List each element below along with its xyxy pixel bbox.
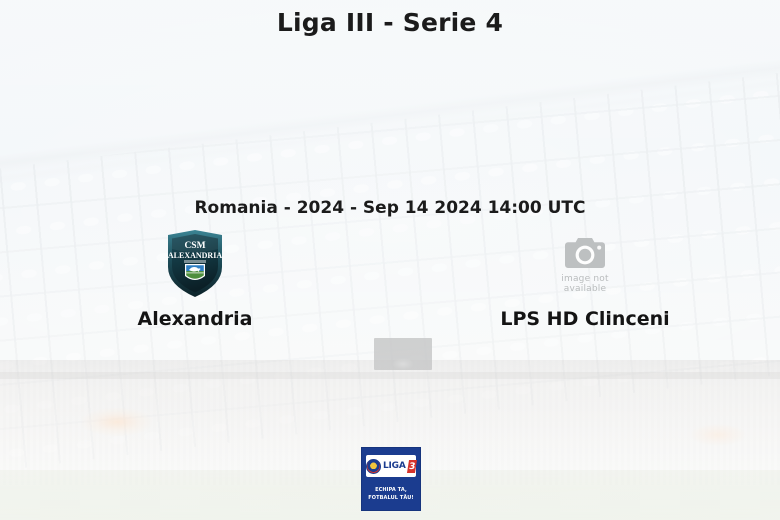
home-team-name: Alexandria [137, 308, 252, 330]
placeholder-text: image not available [549, 274, 621, 294]
svg-text:ALEXANDRIA: ALEXANDRIA [168, 251, 222, 260]
home-team-crest: CSM ALEXANDRIA [159, 228, 231, 300]
liga-wordmark: LIGA [383, 461, 406, 471]
camera-icon [562, 234, 608, 272]
league-badge[interactable]: LIGA 3 ECHIPA TA, FOTBALUL TĂU! [361, 447, 421, 511]
league-tagline-line2: FOTBALUL TĂU! [368, 494, 414, 502]
match-meta: Romania - 2024 - Sep 14 2024 14:00 UTC [0, 198, 780, 218]
league-tagline: ECHIPA TA, FOTBALUL TĂU! [368, 486, 414, 502]
away-team-name: LPS HD Clinceni [500, 308, 669, 330]
image-not-available-placeholder: image not available [549, 228, 621, 300]
match-preview-card: Liga III - Serie 4 Romania - 2024 - Sep … [0, 0, 780, 520]
away-team[interactable]: image not available LPS HD Clinceni [435, 228, 735, 330]
home-team[interactable]: CSM ALEXANDRIA Alexandria [45, 228, 345, 330]
placeholder-text-line: image not available [561, 274, 608, 294]
page-title: Liga III - Serie 4 [0, 8, 780, 37]
svg-text:CSM: CSM [184, 241, 205, 251]
league-tagline-line1: ECHIPA TA, [368, 486, 414, 494]
teams-row: CSM ALEXANDRIA Alexandria [0, 228, 780, 330]
liga-3-logo: LIGA 3 [366, 455, 416, 477]
frf-seal-icon [366, 459, 381, 474]
away-team-crest: image not available [549, 228, 621, 300]
csm-alexandria-shield-icon: CSM ALEXANDRIA [164, 229, 226, 299]
division-number: 3 [407, 460, 417, 473]
